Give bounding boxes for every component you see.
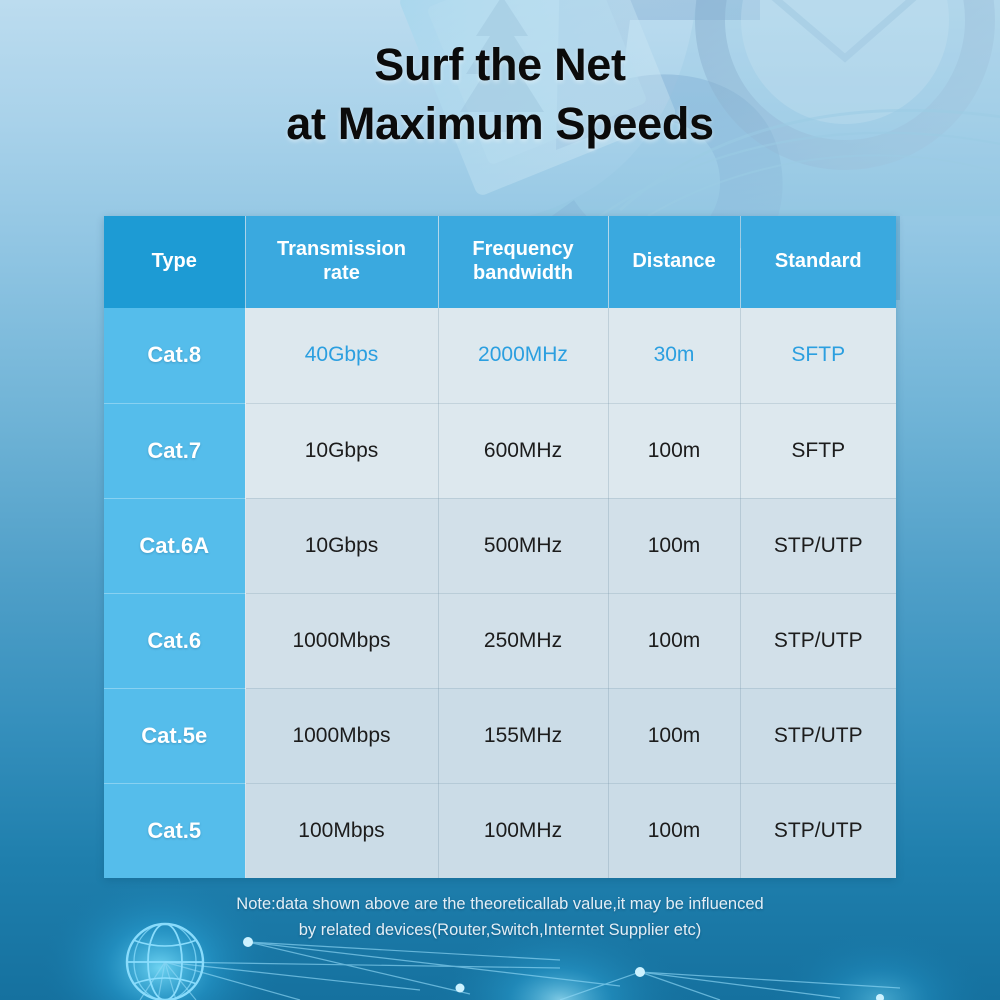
cell-rate: 1000Mbps (245, 688, 438, 783)
cell-rate: 40Gbps (245, 308, 438, 403)
infographic-page: Surf the Net at Maximum Speeds Type Tran… (0, 0, 1000, 1000)
table-row: Cat.6 1000Mbps 250MHz 100m STP/UTP (104, 593, 896, 688)
cell-rate: 10Gbps (245, 403, 438, 498)
cell-type: Cat.6 (104, 593, 245, 688)
column-header-frequency-bandwidth: Frequency bandwidth (438, 216, 608, 308)
cell-bandwidth: 155MHz (438, 688, 608, 783)
table-row: Cat.5e 1000Mbps 155MHz 100m STP/UTP (104, 688, 896, 783)
cell-type: Cat.5e (104, 688, 245, 783)
table-row: Cat.7 10Gbps 600MHz 100m SFTP (104, 403, 896, 498)
table-header-row: Type Transmission rate Frequency bandwid… (104, 216, 896, 308)
column-header-transmission-rate-line2: rate (323, 262, 360, 284)
cell-distance: 30m (608, 308, 740, 403)
title-line-2: at Maximum Speeds (0, 95, 1000, 154)
cell-bandwidth: 100MHz (438, 783, 608, 878)
cell-standard: SFTP (740, 308, 896, 403)
title-line-1: Surf the Net (0, 36, 1000, 95)
cell-type: Cat.6A (104, 498, 245, 593)
cell-standard: STP/UTP (740, 593, 896, 688)
cell-standard: STP/UTP (740, 783, 896, 878)
cell-type: Cat.7 (104, 403, 245, 498)
table-row: Cat.8 40Gbps 2000MHz 30m SFTP (104, 308, 896, 403)
column-header-frequency-bandwidth-line2: bandwidth (473, 262, 573, 284)
cell-distance: 100m (608, 593, 740, 688)
cell-rate: 1000Mbps (245, 593, 438, 688)
cell-distance: 100m (608, 783, 740, 878)
column-header-standard: Standard (740, 216, 896, 308)
table-body: Cat.8 40Gbps 2000MHz 30m SFTP Cat.7 10Gb… (104, 308, 896, 878)
cell-bandwidth: 600MHz (438, 403, 608, 498)
footnote-line-1: Note:data shown above are the theoretica… (0, 892, 1000, 918)
cell-distance: 100m (608, 403, 740, 498)
cable-spec-table: Type Transmission rate Frequency bandwid… (104, 216, 896, 878)
cell-bandwidth: 500MHz (438, 498, 608, 593)
cell-type: Cat.5 (104, 783, 245, 878)
cell-type: Cat.8 (104, 308, 245, 403)
column-header-type: Type (104, 216, 245, 308)
cell-bandwidth: 2000MHz (438, 308, 608, 403)
cell-distance: 100m (608, 688, 740, 783)
column-header-transmission-rate: Transmission rate (245, 216, 438, 308)
cell-rate: 100Mbps (245, 783, 438, 878)
table-row: Cat.6A 10Gbps 500MHz 100m STP/UTP (104, 498, 896, 593)
page-title: Surf the Net at Maximum Speeds (0, 36, 1000, 153)
column-header-frequency-bandwidth-line1: Frequency (472, 238, 573, 260)
footnote-line-2: by related devices(Router,Switch,Internt… (0, 918, 1000, 944)
cell-bandwidth: 250MHz (438, 593, 608, 688)
footnote: Note:data shown above are the theoretica… (0, 892, 1000, 943)
column-header-transmission-rate-line1: Transmission (277, 238, 406, 260)
cell-standard: SFTP (740, 403, 896, 498)
cell-rate: 10Gbps (245, 498, 438, 593)
table-header: Type Transmission rate Frequency bandwid… (104, 216, 896, 308)
column-header-distance: Distance (608, 216, 740, 308)
cell-standard: STP/UTP (740, 498, 896, 593)
table-row: Cat.5 100Mbps 100MHz 100m STP/UTP (104, 783, 896, 878)
cell-standard: STP/UTP (740, 688, 896, 783)
cell-distance: 100m (608, 498, 740, 593)
